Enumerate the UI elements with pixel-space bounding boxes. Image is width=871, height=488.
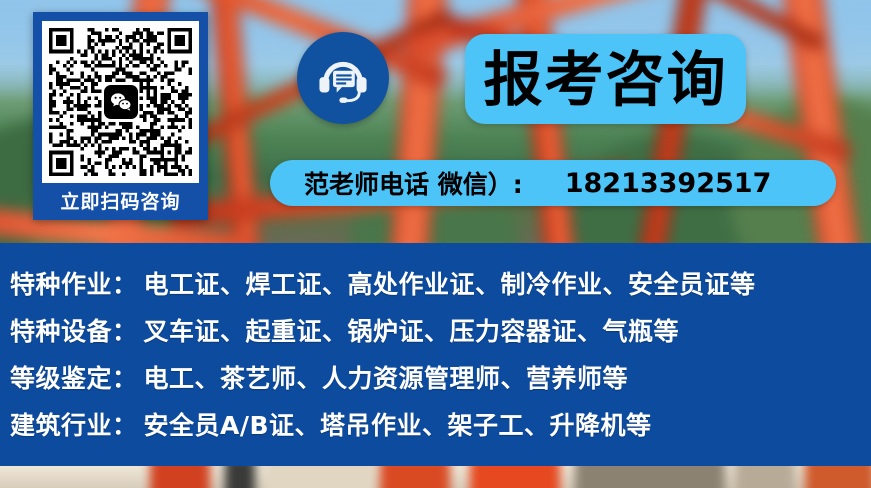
strip-shape <box>380 466 450 488</box>
strip-shape <box>805 466 871 488</box>
strip-shape <box>470 466 560 488</box>
strip-shape <box>265 466 375 488</box>
service-items: 电工证、焊工证、高处作业证、制冷作业、安全员证等 <box>144 270 756 299</box>
service-category: 特种作业： <box>10 270 138 299</box>
bottom-strip-blur <box>0 466 871 488</box>
strip-shape <box>225 466 255 488</box>
contact-phone-number[interactable]: 18213392517 <box>565 168 772 199</box>
service-items: 叉车证、起重证、锅炉证、压力容器证、气瓶等 <box>144 317 680 346</box>
service-row: 建筑行业：安全员A/B证、塔吊作业、架子工、升降机等 <box>10 402 871 449</box>
service-row: 等级鉴定：电工、茶艺师、人力资源管理师、营养师等 <box>10 355 871 402</box>
promo-poster: 立即扫码咨询 报考咨询 范老师电话 微信）: 18213392517 <box>0 0 871 488</box>
service-category: 建筑行业： <box>10 411 138 440</box>
service-row: 特种作业：电工证、焊工证、高处作业证、制冷作业、安全员证等 <box>10 261 871 308</box>
qr-caption-label: 立即扫码咨询 <box>42 183 199 221</box>
service-items: 电工、茶艺师、人力资源管理师、营养师等 <box>144 364 629 393</box>
service-row: 特种设备：叉车证、起重证、锅炉证、压力容器证、气瓶等 <box>10 308 871 355</box>
contact-pill[interactable]: 范老师电话 微信）: 18213392517 <box>270 160 836 206</box>
service-items: 安全员A/B证、塔吊作业、架子工、升降机等 <box>144 411 652 440</box>
service-category: 等级鉴定： <box>10 364 138 393</box>
service-category: 特种设备： <box>10 317 138 346</box>
services-panel: 特种作业：电工证、焊工证、高处作业证、制冷作业、安全员证等 特种设备：叉车证、起… <box>0 243 871 466</box>
strip-shape <box>575 466 725 488</box>
strip-shape <box>735 466 795 488</box>
headset-support-icon <box>297 32 389 124</box>
contact-label: 范老师电话 微信）: <box>304 165 523 201</box>
qr-code-image[interactable] <box>42 21 199 183</box>
title-badge: 报考咨询 <box>465 34 746 124</box>
bottom-photo-strip <box>0 466 871 488</box>
qr-code-card[interactable]: 立即扫码咨询 <box>33 12 208 220</box>
strip-shape <box>150 466 210 488</box>
wechat-logo-icon <box>104 85 138 119</box>
page-title: 报考咨询 <box>483 50 727 109</box>
